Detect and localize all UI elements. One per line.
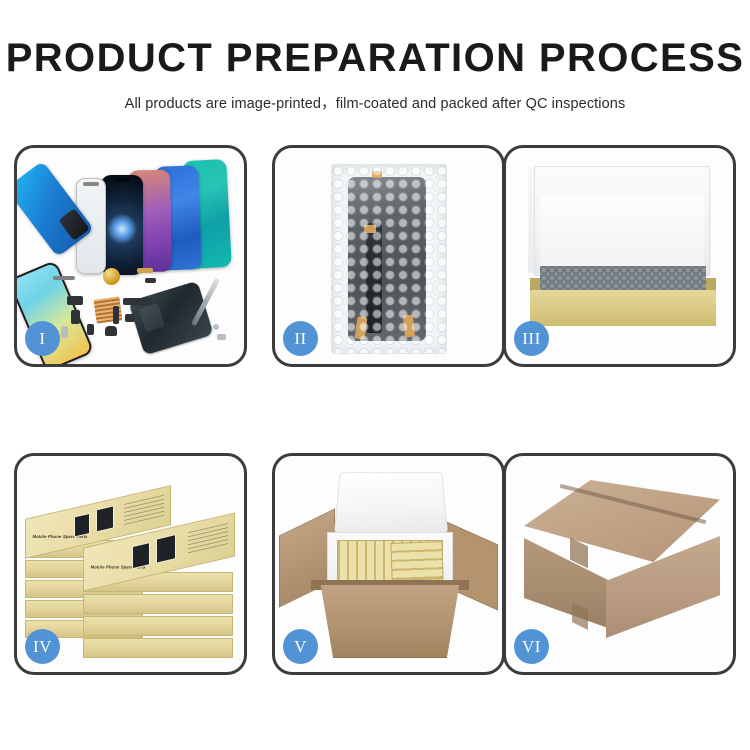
panel-step-6[interactable]: VI: [503, 453, 736, 675]
white-foam-sheet: [540, 196, 704, 268]
spare-part: [61, 326, 68, 338]
infographic-page: PRODUCT PREPARATION PROCESS All products…: [0, 0, 750, 750]
panel-step-2[interactable]: II: [272, 145, 505, 367]
flex-cable: [366, 223, 382, 333]
tape-piece: [364, 225, 376, 233]
phone-screen-dark: [101, 175, 143, 275]
notch-icon: [114, 178, 130, 182]
screen-burst-graphic: [107, 214, 137, 244]
panel-step-5[interactable]: V: [272, 453, 505, 675]
notch-icon: [83, 182, 99, 186]
panel-step-3[interactable]: III: [503, 145, 736, 367]
tape-piece: [372, 171, 382, 178]
spare-part: [71, 310, 80, 324]
stacked-box: [83, 594, 233, 614]
box-window: [96, 505, 114, 532]
spare-part: [105, 326, 117, 336]
header: PRODUCT PREPARATION PROCESS All products…: [0, 36, 750, 113]
box-window: [74, 513, 90, 538]
step-badge-4: IV: [25, 629, 60, 664]
carton-body: [311, 584, 469, 658]
bubble-wrap-bag: [331, 164, 447, 354]
kraft-box-stack: Mobile Phone Spare Parts Mobile Phone Sp…: [23, 482, 243, 658]
page-title: PRODUCT PREPARATION PROCESS: [0, 36, 750, 80]
spare-part: [145, 278, 156, 283]
process-panel-grid: I II: [14, 145, 736, 675]
phone-back-housing: [128, 281, 213, 356]
kraft-boxes-inside: [390, 541, 443, 581]
flex-cable: [123, 298, 153, 305]
stacked-box: [83, 616, 233, 636]
step-badge-2: II: [283, 321, 318, 356]
tape-piece: [403, 315, 415, 338]
panel-step-4[interactable]: Mobile Phone Spare Parts Mobile Phone Sp…: [14, 453, 247, 675]
panel-step-1[interactable]: I: [14, 145, 247, 367]
box-window: [156, 534, 176, 564]
spare-part: [137, 268, 153, 273]
styrofoam-lid: [334, 472, 448, 533]
step-badge-1: I: [25, 321, 60, 356]
spare-part: [67, 296, 83, 305]
spare-part: [87, 324, 94, 335]
stacked-box: [83, 638, 233, 658]
box-window: [132, 542, 150, 569]
step-badge-6: VI: [514, 629, 549, 664]
kraft-box-front: [530, 290, 716, 326]
spare-part: [53, 276, 75, 280]
spare-part: [125, 314, 135, 322]
screw-icon: [213, 324, 219, 330]
spare-part: [113, 306, 119, 324]
step-badge-3: III: [514, 321, 549, 356]
spare-part: [217, 334, 226, 340]
box-spec-text: [188, 523, 228, 554]
page-subtitle: All products are image-printed，film-coat…: [0, 92, 750, 113]
coil-component-icon: [103, 268, 120, 285]
step-badge-5: V: [283, 629, 318, 664]
box-spec-text: [124, 495, 164, 526]
